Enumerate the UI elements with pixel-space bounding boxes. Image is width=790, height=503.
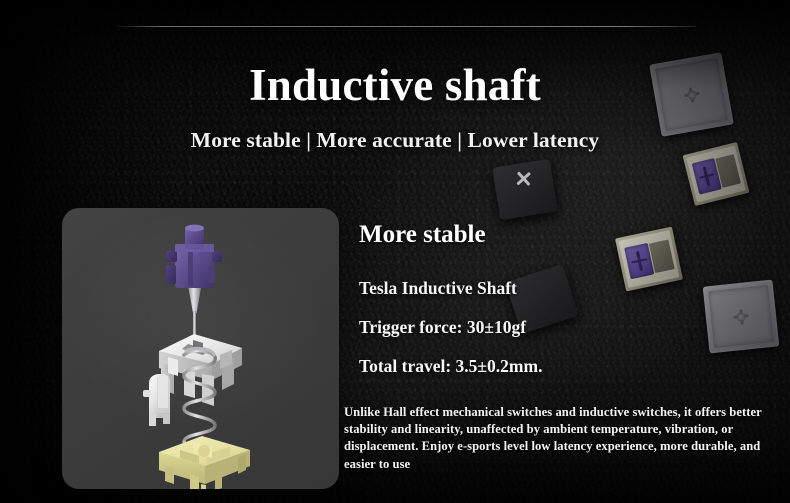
page-subtitle: More stable | More accurate | Lower late… <box>0 128 790 153</box>
exploded-switch-diagram <box>62 208 339 489</box>
spec-line-model: Tesla Inductive Shaft <box>359 278 517 299</box>
part-upper-housing <box>159 334 242 406</box>
description-paragraph: Unlike Hall effect mechanical switches a… <box>344 404 768 473</box>
section-heading: More stable <box>359 221 486 249</box>
part-stem <box>166 225 222 335</box>
page-title: Inductive shaft <box>0 62 790 109</box>
keycap-cross-stem-icon <box>514 169 532 187</box>
promo-banner: Inductive shaft More stable | More accur… <box>0 0 790 503</box>
part-base-housing <box>159 436 250 489</box>
keycap-clear-lower-right <box>703 280 780 354</box>
spec-line-total-travel: Total travel: 3.5±0.2mm. <box>359 356 542 377</box>
product-image-card <box>62 208 339 489</box>
header-divider <box>116 26 696 27</box>
spec-line-trigger-force: Trigger force: 30±10gf <box>359 317 526 338</box>
keycap-black-center <box>492 159 558 220</box>
part-slider <box>143 374 170 426</box>
